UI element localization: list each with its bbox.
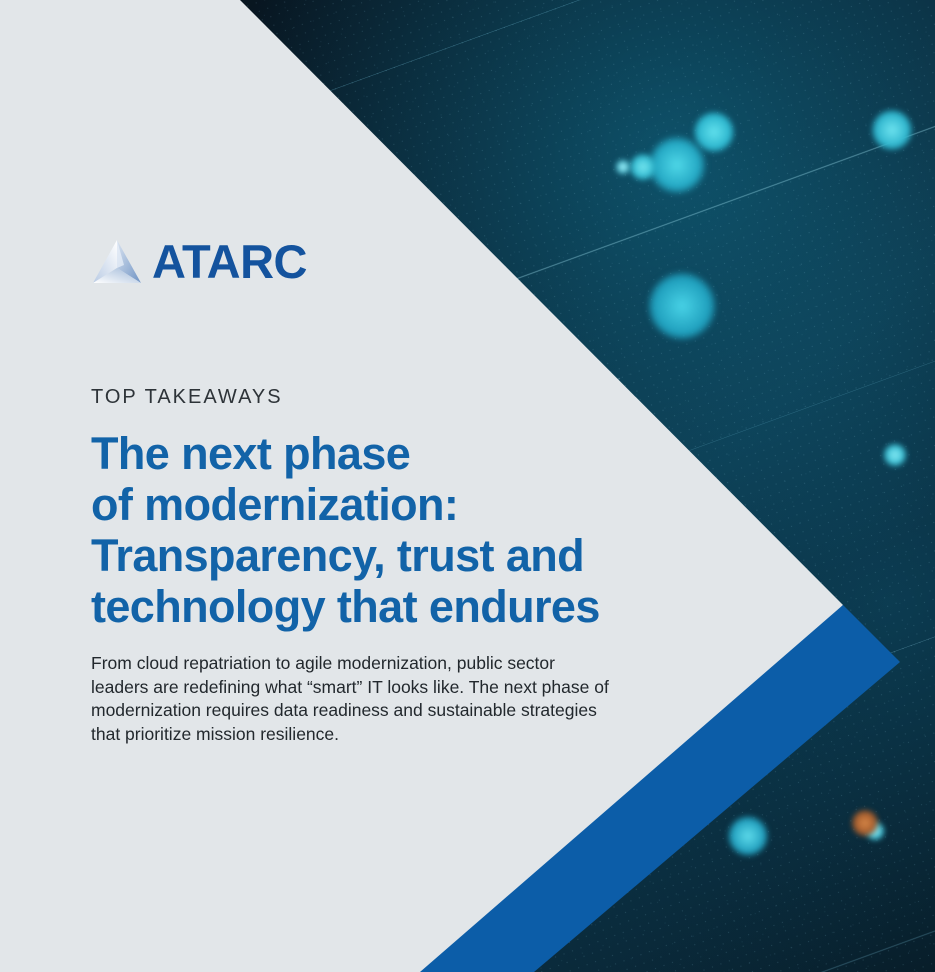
logo-wordmark: ATARC <box>152 238 307 285</box>
cover-page: ATARC TOP TAKEAWAYS The next phase of mo… <box>0 0 935 972</box>
headline-line: The next phase <box>91 428 711 479</box>
bokeh-orb <box>872 110 912 150</box>
body-line: that prioritize mission resilience. <box>91 723 636 747</box>
logo[interactable]: ATARC <box>91 238 307 285</box>
bokeh-orb <box>694 112 734 152</box>
headline-line: technology that endures <box>91 581 711 632</box>
page-title: The next phase of modernization: Transpa… <box>91 428 711 632</box>
body-paragraph: From cloud repatriation to agile moderni… <box>91 652 636 746</box>
bokeh-orb <box>884 444 906 466</box>
headline-line: of modernization: <box>91 479 711 530</box>
bokeh-orb <box>648 272 716 340</box>
body-line: modernization requires data readiness an… <box>91 699 636 723</box>
bokeh-orb <box>852 810 878 836</box>
triangle-prism-icon <box>91 238 143 285</box>
body-line: From cloud repatriation to agile moderni… <box>91 652 636 676</box>
bokeh-orb <box>648 136 706 194</box>
bokeh-orb <box>616 160 630 174</box>
bokeh-orb <box>630 154 656 180</box>
eyebrow-label: TOP TAKEAWAYS <box>91 386 283 409</box>
body-line: leaders are redefining what “smart” IT l… <box>91 676 636 700</box>
bokeh-orb <box>728 816 768 856</box>
headline-line: Transparency, trust and <box>91 530 711 581</box>
